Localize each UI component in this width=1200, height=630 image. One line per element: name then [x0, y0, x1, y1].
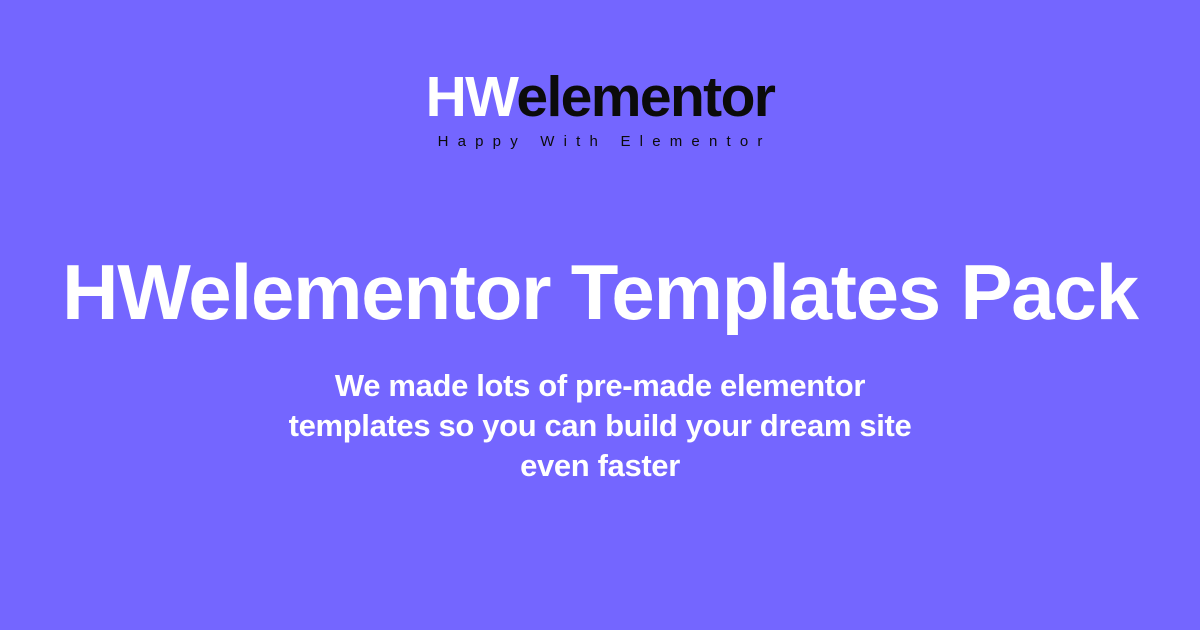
hero-subtitle-line-1: We made lots of pre-made elementor [200, 366, 1000, 406]
hero-subtitle-line-2: templates so you can build your dream si… [200, 406, 1000, 446]
brand-wordmark-prefix: HW [426, 65, 517, 129]
hero-subtitle: We made lots of pre-made elementor templ… [200, 366, 1000, 486]
page-title: HWelementor Templates Pack [0, 250, 1200, 334]
brand-wordmark: HWelementor [426, 68, 775, 126]
brand-wordmark-suffix: elementor [516, 65, 774, 129]
hero-subtitle-line-3: even faster [200, 446, 1000, 486]
promo-banner: HWelementor Happy With Elementor HWeleme… [0, 0, 1200, 630]
brand-tagline: Happy With Elementor [428, 134, 771, 149]
brand-logo: HWelementor Happy With Elementor [0, 68, 1200, 149]
